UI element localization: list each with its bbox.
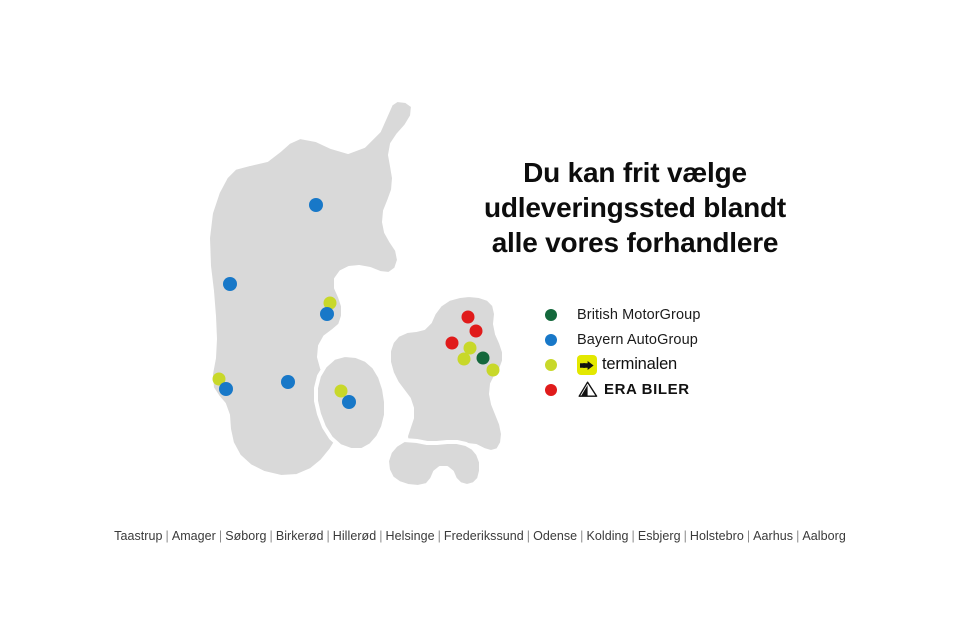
- map-region-zealand: [389, 295, 504, 457]
- map-region-lolland-falster: [387, 440, 481, 487]
- city-separator: |: [435, 529, 444, 543]
- city-separator: |: [163, 529, 172, 543]
- city-name: Amager: [172, 529, 216, 543]
- poster-canvas: Du kan frit vælge udleveringssted blandt…: [0, 0, 960, 640]
- legend-label-british-motorgroup: British MotorGroup: [577, 307, 700, 323]
- city-name: Taastrup: [114, 529, 162, 543]
- city-separator: |: [267, 529, 276, 543]
- headline-line-2: udleveringssted blandt: [455, 190, 815, 225]
- city-separator: |: [681, 529, 690, 543]
- dealer-dot-amager-terminalen[interactable]: [487, 364, 500, 377]
- legend-item-era-biler[interactable]: ERA BILER: [545, 377, 805, 402]
- city-name: Holstebro: [690, 529, 744, 543]
- city-separator: |: [524, 529, 533, 543]
- dealer-dot-birkerod-terminalen[interactable]: [464, 342, 477, 355]
- city-name: Helsinge: [386, 529, 435, 543]
- terminalen-logo: terminalen: [577, 354, 677, 376]
- city-separator: |: [629, 529, 638, 543]
- city-separator: |: [216, 529, 225, 543]
- city-name: Aalborg: [802, 529, 845, 543]
- city-name: Kolding: [586, 529, 628, 543]
- city-list: Taastrup|Amager|Søborg|Birkerød|Hillerød…: [0, 529, 960, 543]
- era-biler-logo-text: ERA BILER: [604, 381, 690, 398]
- dealer-dot-hillerod-era[interactable]: [470, 325, 483, 338]
- era-biler-logo: ERA BILER: [577, 379, 690, 401]
- headline-line-3: alle vores forhandlere: [455, 225, 815, 260]
- city-name: Frederikssund: [444, 529, 524, 543]
- legend-item-bayern-autogroup[interactable]: Bayern AutoGroup: [545, 327, 805, 352]
- dealer-dot-soborg-british[interactable]: [477, 352, 490, 365]
- dealer-dot-odense-terminalen[interactable]: [335, 385, 348, 398]
- terminalen-arrow-icon: [577, 355, 597, 375]
- legend-swatch-british-motorgroup: [545, 309, 557, 321]
- legend-swatch-terminalen: [545, 359, 557, 371]
- city-separator: |: [744, 529, 753, 543]
- dealer-dot-helsinge-era[interactable]: [462, 311, 475, 324]
- legend-swatch-bayern-autogroup: [545, 334, 557, 346]
- city-name: Esbjerg: [638, 529, 681, 543]
- city-separator: |: [323, 529, 332, 543]
- brand-legend: British MotorGroup Bayern AutoGroup term…: [545, 302, 805, 402]
- terminalen-logo-text: terminalen: [602, 355, 677, 374]
- dealer-dot-kolding-bayern[interactable]: [281, 375, 295, 389]
- city-name: Birkerød: [276, 529, 324, 543]
- city-name: Aarhus: [753, 529, 793, 543]
- legend-item-terminalen[interactable]: terminalen: [545, 352, 805, 377]
- dealer-dot-aarhus-bayern[interactable]: [320, 307, 334, 321]
- headline-line-1: Du kan frit vælge: [455, 155, 815, 190]
- dealer-dot-odense-bayern[interactable]: [342, 395, 356, 409]
- dealer-dot-esbjerg-bayern[interactable]: [219, 382, 233, 396]
- era-triangle-icon: [577, 381, 599, 398]
- city-separator: |: [376, 529, 385, 543]
- legend-item-british-motorgroup[interactable]: British MotorGroup: [545, 302, 805, 327]
- headline: Du kan frit vælge udleveringssted blandt…: [455, 155, 815, 260]
- legend-swatch-era-biler: [545, 384, 557, 396]
- city-name: Odense: [533, 529, 577, 543]
- dealer-dot-aalborg-bayern[interactable]: [223, 277, 237, 291]
- city-name: Søborg: [225, 529, 266, 543]
- dealer-dot-frederikssund-era[interactable]: [446, 337, 459, 350]
- city-name: Hillerød: [333, 529, 376, 543]
- dealer-dot-taastrup-terminalen[interactable]: [458, 353, 471, 366]
- dealer-dot-nordjylland-bayern[interactable]: [309, 198, 323, 212]
- legend-label-bayern-autogroup: Bayern AutoGroup: [577, 332, 698, 348]
- city-separator: |: [793, 529, 802, 543]
